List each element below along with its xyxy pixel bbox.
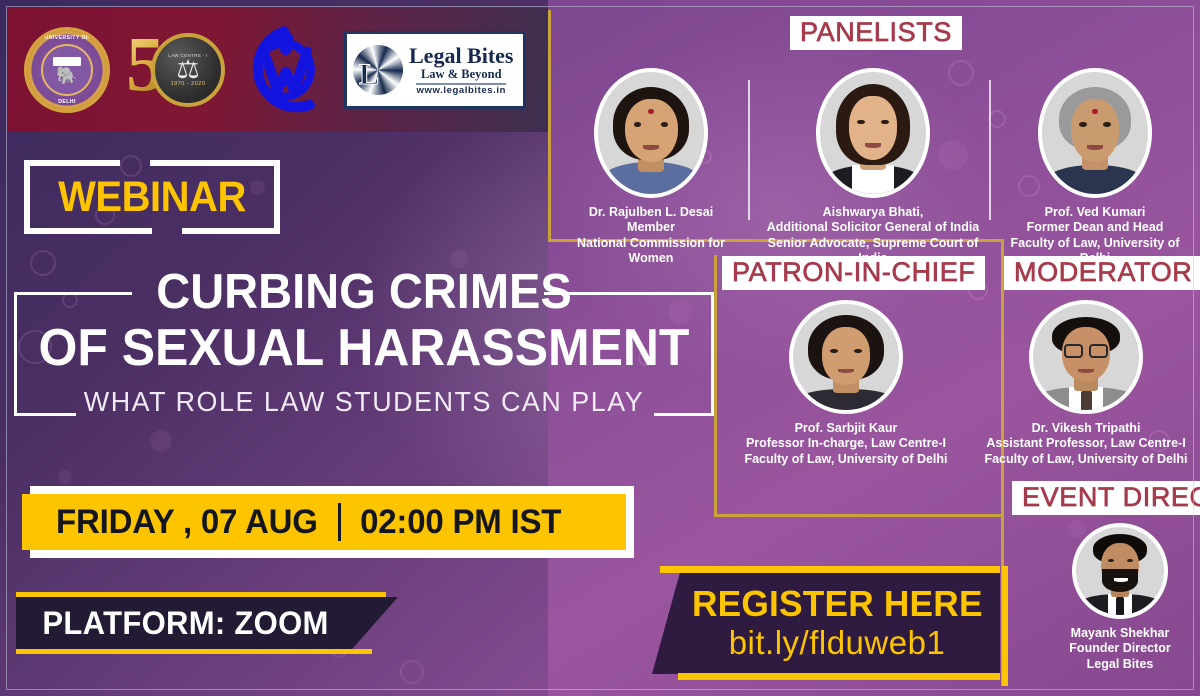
register-block[interactable]: REGISTER HERE bit.ly/flduweb1 <box>652 566 1008 686</box>
panelist-1-name: Dr. Rajulben L. Desai <box>556 205 746 220</box>
register-heading: REGISTER HERE <box>692 586 983 623</box>
person-card-patron-in-chief: Prof. Sarbjit Kaur Professor In-charge, … <box>730 300 962 467</box>
book-icon <box>53 57 81 66</box>
webinar-poster: UNIVERSITY OF 🐘 DELHI 50 LAW CENTRE - I … <box>0 0 1200 696</box>
gold-divider-vertical-top <box>548 10 551 242</box>
person-card-panelist-2: Aishwarya Bhati, Additional Solicitor Ge… <box>758 68 988 266</box>
person-card-panelist-1: Dr. Rajulben L. Desai Member National Co… <box>556 68 746 266</box>
date-time-bar: FRIDAY , 07 AUG 02:00 PM IST <box>22 486 634 558</box>
register-gold-top-accent <box>660 566 1000 573</box>
avatar-rajulben-desai <box>594 68 708 198</box>
title-subtitle: WHAT ROLE LAW STUDENTS CAN PLAY <box>28 386 700 418</box>
law-centre-seal-icon: LAW CENTRE - I ⚖ 1970 - 2020 <box>151 33 225 107</box>
legal-bites-mark-icon <box>353 45 403 95</box>
legal-bites-tagline: Law & Beyond <box>421 68 502 81</box>
event-director-line2: Founder Director <box>1040 641 1200 656</box>
main-title-block: CURBING CRIMES OF SEXUAL HARASSMENT WHAT… <box>14 270 714 416</box>
platform-bar-body: PLATFORM: ZOOM <box>16 597 398 649</box>
register-gold-bottom-accent <box>678 673 1000 680</box>
legal-bites-title: Legal Bites <box>409 44 514 67</box>
patron-line3: Faculty of Law, University of Delhi <box>730 452 962 467</box>
date-time-separator <box>338 503 341 541</box>
panelist-3-name: Prof. Ved Kumari <box>994 205 1196 220</box>
webinar-badge: WEBINAR <box>24 160 280 234</box>
moderator-line3: Faculty of Law, University of Delhi <box>978 452 1194 467</box>
event-director-line3: Legal Bites <box>1040 657 1200 672</box>
university-of-delhi-seal-icon: UNIVERSITY OF 🐘 DELHI <box>24 27 110 113</box>
avatar-mayank-shekhar <box>1072 523 1168 619</box>
gold-divider-vertical-mid <box>714 255 717 517</box>
avatar-vikesh-tripathi <box>1029 300 1143 414</box>
moderator-name: Dr. Vikesh Tripathi <box>978 421 1194 436</box>
du-inner-emblem: 🐘 <box>41 44 93 96</box>
legal-bites-logo: Legal Bites Law & Beyond www.legalbites.… <box>344 31 526 109</box>
register-gold-right-accent <box>1002 566 1008 686</box>
panelist-2-name: Aishwarya Bhati, <box>758 205 988 220</box>
golden-jubilee-50-icon: 50 LAW CENTRE - I ⚖ 1970 - 2020 <box>124 24 224 116</box>
event-director-name: Mayank Shekhar <box>1040 626 1200 641</box>
tag-panelists: PANELISTS <box>790 16 962 50</box>
title-line-2: OF SEXUAL HARASSMENT <box>28 322 700 374</box>
platform-gold-top-accent <box>16 592 386 597</box>
panelist-1-line2: Member <box>556 220 746 235</box>
register-url-link[interactable]: bit.ly/flduweb1 <box>729 625 946 661</box>
patron-name: Prof. Sarbjit Kaur <box>730 421 962 436</box>
panelist-divider-2 <box>989 80 991 220</box>
avatar-ved-kumari <box>1038 68 1152 198</box>
tag-patron-in-chief: PATRON-IN-CHIEF <box>722 256 985 290</box>
seal-years-text: 1970 - 2020 <box>171 81 206 87</box>
register-body[interactable]: REGISTER HERE bit.ly/flduweb1 <box>652 573 1000 674</box>
scales-of-justice-icon: ⚖ <box>176 58 199 80</box>
title-line-1: CURBING CRIMES <box>28 268 700 317</box>
time-text: 02:00 PM IST <box>360 503 561 542</box>
legal-bites-website: www.legalbites.in <box>416 83 506 96</box>
tag-moderator: MODERATOR <box>1004 256 1200 290</box>
womens-development-cell-icon <box>238 24 330 116</box>
person-card-event-director: Mayank Shekhar Founder Director Legal Bi… <box>1040 523 1200 672</box>
patron-line2: Professor In-charge, Law Centre-I <box>730 436 962 451</box>
panelist-divider-1 <box>748 80 750 220</box>
platform-gold-bottom-accent <box>16 649 372 654</box>
person-card-panelist-3: Prof. Ved Kumari Former Dean and Head Fa… <box>994 68 1196 266</box>
panelist-2-line2: Additional Solicitor General of India <box>758 220 988 235</box>
moderator-line2: Assistant Professor, Law Centre-I <box>978 436 1194 451</box>
gold-divider-horizontal-mid <box>714 514 1004 517</box>
elephant-icon: 🐘 <box>56 67 77 84</box>
platform-bar: PLATFORM: ZOOM <box>16 592 406 654</box>
du-ring-bottom-text: DELHI <box>58 99 76 105</box>
avatar-sarbjit-kaur <box>789 300 903 414</box>
avatar-aishwarya-bhati <box>816 68 930 198</box>
logo-bar: UNIVERSITY OF 🐘 DELHI 50 LAW CENTRE - I … <box>8 8 548 132</box>
date-text: FRIDAY , 07 AUG <box>56 503 318 542</box>
platform-text: PLATFORM: ZOOM <box>42 605 328 642</box>
du-ring-top-text: UNIVERSITY OF <box>45 35 90 41</box>
date-bar-yellow: FRIDAY , 07 AUG 02:00 PM IST <box>22 494 626 550</box>
person-card-moderator: Dr. Vikesh Tripathi Assistant Professor,… <box>978 300 1194 467</box>
panelist-1-line3: National Commission for Women <box>556 236 746 267</box>
webinar-label: WEBINAR <box>33 160 271 234</box>
panelist-3-line2: Former Dean and Head <box>994 220 1196 235</box>
tag-event-director: EVENT DIRECTOR <box>1012 481 1200 515</box>
